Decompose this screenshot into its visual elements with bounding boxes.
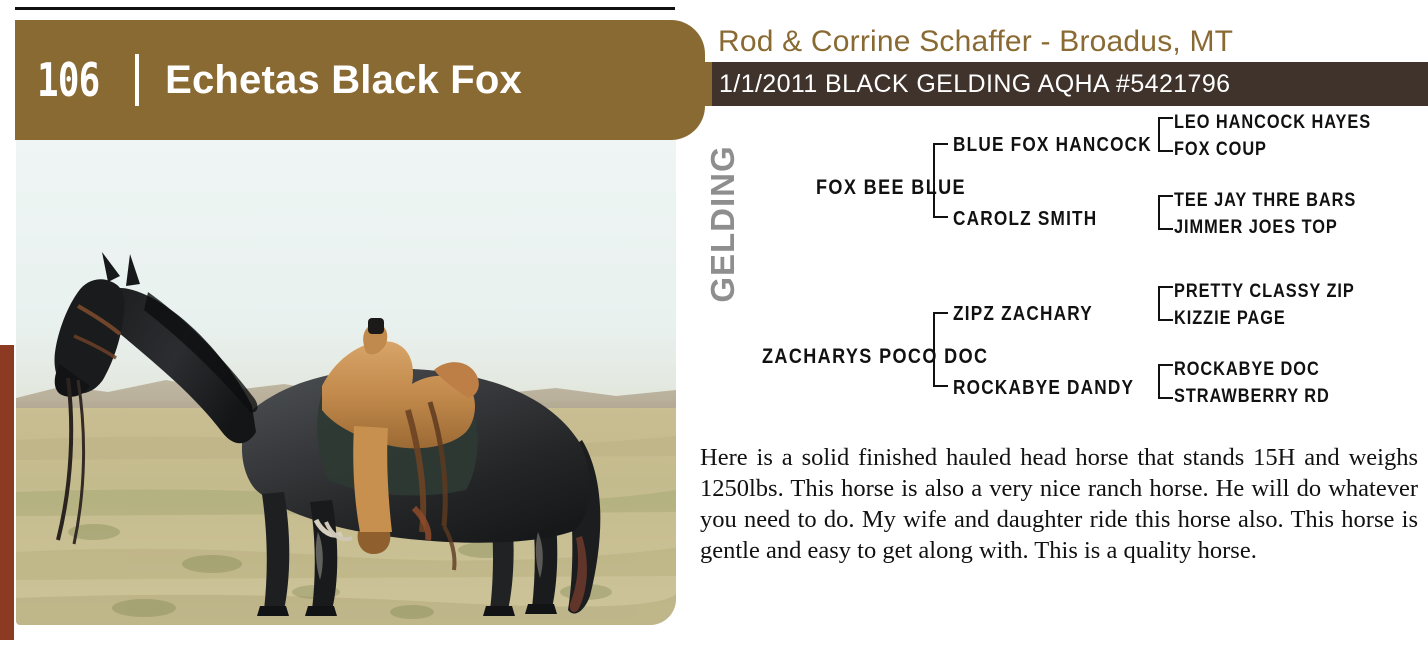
top-divider-rule [15,7,675,10]
pedigree-dam-dam-dam: STRAWBERRY RD [1174,386,1330,408]
horse-name: Echetas Black Fox [165,58,522,103]
pedigree-bracket-dam [933,312,948,387]
pedigree-sire-dam-sire: TEE JAY THRE BARS [1174,190,1356,212]
lot-title-inner: 106 Echetas Black Fox [37,20,522,140]
detail-bar: 1/1/2011 BLACK GELDING AQHA #5421796 [705,62,1428,106]
pedigree-bracket-sire-dam [1158,195,1173,230]
pedigree-dam-sire-dam: KIZZIE PAGE [1174,308,1286,330]
pedigree-sire-dam-dam: JIMMER JOES TOP [1174,217,1338,239]
pedigree-bracket-dam-sire [1158,286,1173,321]
catalog-page: 106 Echetas Black Fox [0,0,1428,662]
horse-description: Here is a solid finished hauled head hor… [700,442,1418,566]
lot-number: 106 [37,53,99,107]
pedigree-dam: ZACHARYS POCO DOC [762,345,988,369]
horse-photo-illustration [16,140,676,625]
pedigree-dam-sire-sire: PRETTY CLASSY ZIP [1174,281,1355,303]
pedigree-tree: FOX BEE BLUE BLUE FOX HANCOCK CAROLZ SMI… [676,112,1428,427]
pedigree-bracket-sire-sire [1158,117,1173,152]
pedigree-sire-sire-dam: FOX COUP [1174,139,1267,161]
left-edge-accent-strip [0,345,14,640]
pedigree-sire-sire: BLUE FOX HANCOCK [953,134,1152,157]
pedigree-dam-dam: ROCKABYE DANDY [953,377,1134,400]
pedigree-sire-sire-sire: LEO HANCOCK HAYES [1174,112,1371,134]
detail-bar-accent [705,62,712,106]
detail-bar-text: 1/1/2011 BLACK GELDING AQHA #5421796 [719,70,1230,99]
lot-title-banner: 106 Echetas Black Fox [15,20,705,140]
pedigree-dam-sire: ZIPZ ZACHARY [953,303,1093,326]
pedigree-bracket-dam-dam [1158,364,1173,399]
pedigree-bracket-sire [933,143,948,218]
right-info-panel: Rod & Corrine Schaffer - Broadus, MT 1/1… [676,0,1428,662]
consignor-line: Rod & Corrine Schaffer - Broadus, MT [718,25,1233,59]
pedigree-dam-dam-sire: ROCKABYE DOC [1174,359,1320,381]
horse-photo [16,140,676,625]
pedigree-sire-dam: CAROLZ SMITH [953,208,1097,231]
title-divider [135,54,139,106]
